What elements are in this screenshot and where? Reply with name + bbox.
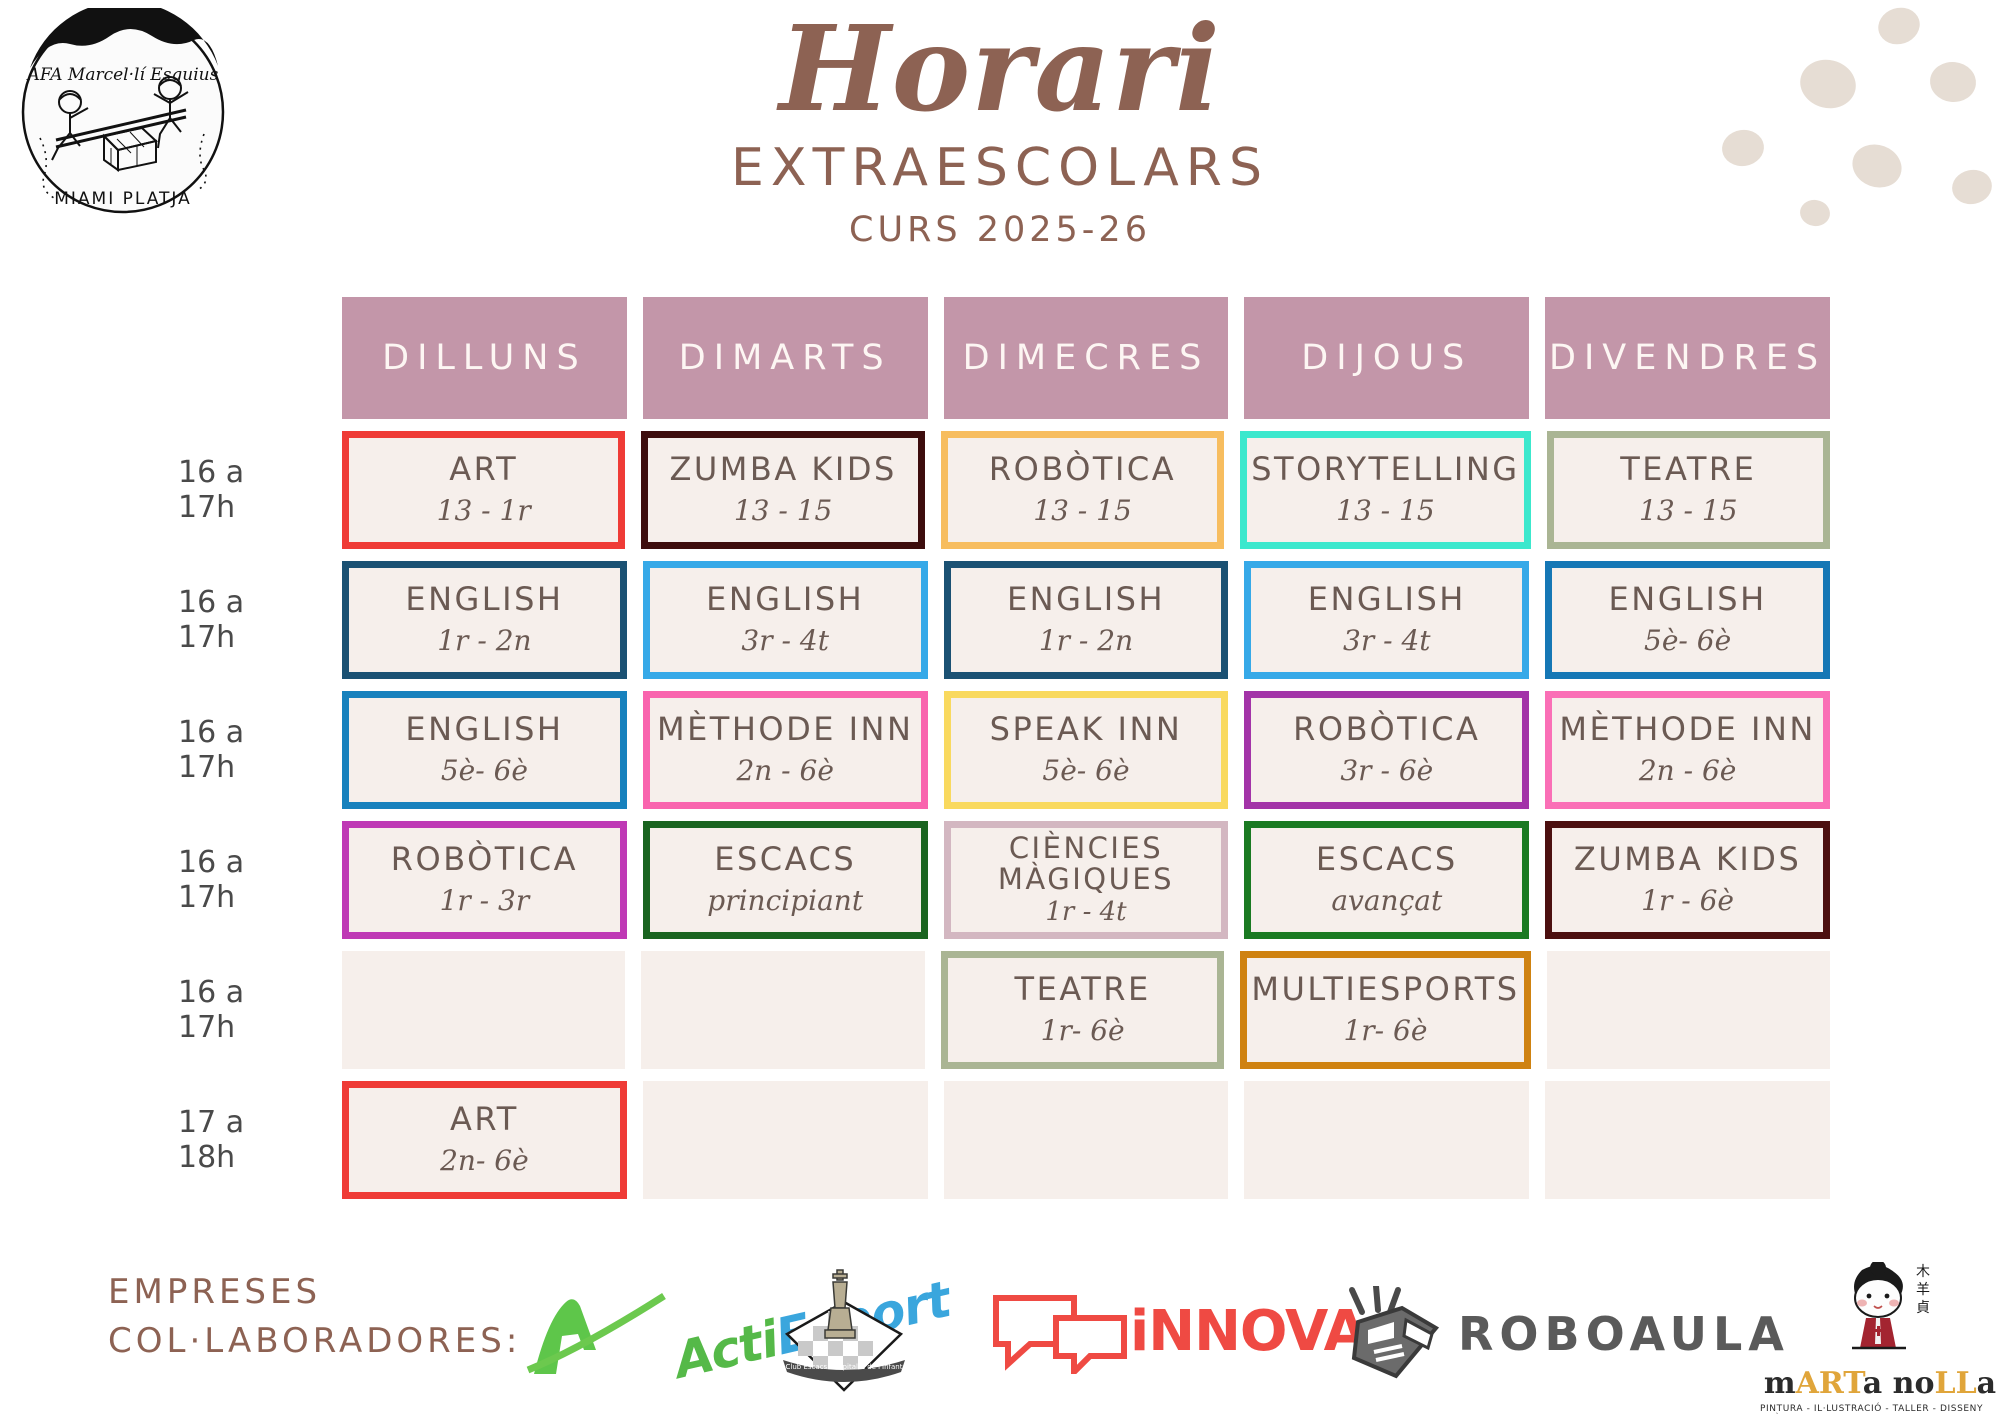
actiesport-icon bbox=[522, 1278, 672, 1382]
activity-name: MÈTHODE INN bbox=[1559, 713, 1815, 747]
activity-cell[interactable]: SPEAK INN5è- 6è bbox=[944, 691, 1229, 809]
activity-cell[interactable]: ROBÒTICA3r - 6è bbox=[1244, 691, 1529, 809]
day-header-dijous: DIJOUS bbox=[1244, 297, 1529, 419]
svg-text:貞: 貞 bbox=[1916, 1300, 1930, 1316]
activity-level: 5è- 6è bbox=[1644, 624, 1731, 657]
logo-org-top: AFA Marcel·lí Esquius bbox=[26, 65, 219, 85]
schedule-row: 16 a 17hART13 - 1rZUMBA KIDS13 - 15ROBÒT… bbox=[178, 431, 1830, 549]
empty-cell bbox=[944, 1081, 1229, 1199]
activity-name: ENGLISH bbox=[1007, 583, 1165, 617]
activity-level: 1r - 3r bbox=[440, 884, 530, 917]
activity-level: 3r - 4t bbox=[741, 624, 829, 657]
activity-cell[interactable]: ZUMBA KIDS1r - 6è bbox=[1545, 821, 1830, 939]
page-subtitle: EXTRAESCOLARS bbox=[620, 138, 1380, 198]
activity-cell[interactable]: ENGLISH1r - 2n bbox=[944, 561, 1229, 679]
activity-level: 13 - 15 bbox=[1336, 494, 1435, 527]
activity-cell[interactable]: STORYTELLING13 - 15 bbox=[1240, 431, 1530, 549]
activity-name: MULTIESPORTS bbox=[1251, 973, 1519, 1007]
day-header-dilluns: DILLUNS bbox=[342, 297, 627, 419]
activity-level: 13 - 15 bbox=[1033, 494, 1132, 527]
activity-cell[interactable]: ESCACSavançat bbox=[1244, 821, 1529, 939]
activity-name: CIÈNCIES MÀGIQUES bbox=[998, 833, 1174, 894]
svg-text:羊: 羊 bbox=[1916, 1282, 1930, 1298]
logo-marta-nolla: 木羊貞 mARTa noLLa PINTURA - IL·LUSTRACIÓ -… bbox=[1760, 1262, 2000, 1414]
empty-cell bbox=[1545, 1081, 1830, 1199]
activity-level: 1r - 2n bbox=[437, 624, 531, 657]
activity-cell[interactable]: MÈTHODE INN2n - 6è bbox=[1545, 691, 1830, 809]
activity-name: TEATRE bbox=[1620, 453, 1756, 487]
empty-cell bbox=[1244, 1081, 1529, 1199]
activity-cell[interactable]: ESCACSprincipiant bbox=[643, 821, 928, 939]
schedule-row: 16 a 17hTEATRE1r- 6èMULTIESPORTS1r- 6è bbox=[178, 951, 1830, 1069]
activity-name: ROBÒTICA bbox=[391, 843, 578, 877]
activity-name: ENGLISH bbox=[706, 583, 864, 617]
time-slot-label: 16 a 17h bbox=[178, 561, 326, 679]
marta-nolla-character-icon: 木羊貞 bbox=[1824, 1262, 1936, 1366]
footer: EMPRESES COL·LABORADORES: ActiEsport bbox=[0, 1262, 2000, 1414]
escacs-club-name: Club Escacs Hospitalet de l'Infant bbox=[786, 1363, 903, 1371]
activity-cell[interactable]: ZUMBA KIDS13 - 15 bbox=[641, 431, 924, 549]
activity-level: 1r- 6è bbox=[1343, 1014, 1427, 1047]
page-title: Horari bbox=[620, 10, 1380, 128]
empty-cell bbox=[342, 951, 625, 1069]
activity-name: ZUMBA KIDS bbox=[669, 453, 896, 487]
activity-name: ENGLISH bbox=[1308, 583, 1466, 617]
schedule-row: 16 a 17hENGLISH5è- 6èMÈTHODE INN2n - 6èS… bbox=[178, 691, 1830, 809]
activity-level: 5è- 6è bbox=[441, 754, 528, 787]
marta-nolla-wordmark: mARTa noLLa bbox=[1764, 1366, 1996, 1401]
innova-wordmark: iNNOVA bbox=[1130, 1299, 1366, 1364]
activity-level: 1r - 4t bbox=[1045, 897, 1126, 927]
marta-nolla-tagline: PINTURA - IL·LUSTRACIÓ - TALLER - DISSEN… bbox=[1760, 1404, 2000, 1414]
empty-cell bbox=[1547, 951, 1830, 1069]
activity-name: ESCACS bbox=[714, 843, 856, 877]
activity-cell[interactable]: ENGLISH5è- 6è bbox=[1545, 561, 1830, 679]
activity-name: ROBÒTICA bbox=[989, 453, 1176, 487]
activity-name: ART bbox=[450, 1103, 519, 1137]
activity-level: 13 - 15 bbox=[734, 494, 833, 527]
schedule-poster: AFA Marcel·lí Esquius bbox=[0, 0, 2000, 1414]
activity-cell[interactable]: TEATRE1r- 6è bbox=[941, 951, 1224, 1069]
day-header-divendres: DIVENDRES bbox=[1545, 297, 1830, 419]
activity-name: ENGLISH bbox=[1609, 583, 1767, 617]
empty-cell bbox=[641, 951, 924, 1069]
time-slot-label: 16 a 17h bbox=[178, 691, 326, 809]
activity-cell[interactable]: ENGLISH3r - 4t bbox=[1244, 561, 1529, 679]
activity-name: SPEAK INN bbox=[990, 713, 1183, 747]
collaborators-label: EMPRESES COL·LABORADORES: bbox=[108, 1268, 521, 1367]
activity-level: 2n- 6è bbox=[440, 1144, 529, 1177]
activity-cell[interactable]: TEATRE13 - 15 bbox=[1547, 431, 1830, 549]
activity-name: ART bbox=[449, 453, 518, 487]
svg-text:木: 木 bbox=[1916, 1264, 1930, 1280]
schedule-row: 16 a 17hENGLISH1r - 2nENGLISH3r - 4tENGL… bbox=[178, 561, 1830, 679]
pebble-shape bbox=[1949, 166, 1995, 208]
activity-name: ZUMBA KIDS bbox=[1574, 843, 1801, 877]
logo-org-bottom: MIAMI PLATJA bbox=[54, 189, 192, 209]
activity-cell[interactable]: ENGLISH3r - 4t bbox=[643, 561, 928, 679]
activity-cell[interactable]: ENGLISH5è- 6è bbox=[342, 691, 627, 809]
activity-name: MÈTHODE INN bbox=[657, 713, 913, 747]
pebble-shape bbox=[1720, 127, 1767, 168]
logo-escacs-club: Club Escacs Hospitalet de l'Infant bbox=[775, 1268, 913, 1398]
schedule-table: DILLUNS DIMARTS DIMECRES DIJOUS DIVENDRE… bbox=[178, 297, 1830, 1211]
pebble-shape bbox=[1795, 54, 1861, 114]
activity-cell[interactable]: ENGLISH1r - 2n bbox=[342, 561, 627, 679]
schedule-row: 17 a 18hART2n- 6è bbox=[178, 1081, 1830, 1199]
activity-level: 3r - 6è bbox=[1340, 754, 1433, 787]
activity-name: ROBÒTICA bbox=[1293, 713, 1480, 747]
activity-level: 1r - 6è bbox=[1641, 884, 1734, 917]
activity-cell[interactable]: CIÈNCIES MÀGIQUES1r - 4t bbox=[944, 821, 1229, 939]
day-header-dimarts: DIMARTS bbox=[643, 297, 928, 419]
activity-cell[interactable]: ART2n- 6è bbox=[342, 1081, 627, 1199]
school-year: CURS 2025-26 bbox=[620, 210, 1380, 250]
roboaula-robot-icon bbox=[1340, 1286, 1448, 1382]
schedule-row: 16 a 17hROBÒTICA1r - 3rESCACSprincipiant… bbox=[178, 821, 1830, 939]
activity-cell[interactable]: MÈTHODE INN2n - 6è bbox=[643, 691, 928, 809]
activity-name: STORYTELLING bbox=[1251, 453, 1519, 487]
activity-level: 1r - 2n bbox=[1039, 624, 1133, 657]
pebble-shape bbox=[1928, 60, 1978, 105]
time-slot-label: 16 a 17h bbox=[178, 951, 326, 1069]
pebble-shape bbox=[1798, 198, 1832, 229]
logo-roboaula: ROBOAULA bbox=[1340, 1286, 1790, 1382]
activity-level: 2n - 6è bbox=[1639, 754, 1737, 787]
title-block: Horari EXTRAESCOLARS CURS 2025-26 bbox=[620, 10, 1380, 250]
day-header-row: DILLUNS DIMARTS DIMECRES DIJOUS DIVENDRE… bbox=[178, 297, 1830, 419]
activity-level: 1r- 6è bbox=[1041, 1014, 1125, 1047]
pebble-shape bbox=[1846, 138, 1907, 195]
pebble-shape bbox=[1873, 2, 1924, 49]
empty-cell bbox=[643, 1081, 928, 1199]
activity-level: 5è- 6è bbox=[1042, 754, 1129, 787]
activity-level: 2n - 6è bbox=[736, 754, 834, 787]
activity-cell[interactable]: ROBÒTICA13 - 15 bbox=[941, 431, 1224, 549]
activity-level: 3r - 4t bbox=[1343, 624, 1431, 657]
activity-cell[interactable]: MULTIESPORTS1r- 6è bbox=[1240, 951, 1530, 1069]
activity-cell[interactable]: ART13 - 1r bbox=[342, 431, 625, 549]
logo-innova: iNNOVA bbox=[990, 1288, 1366, 1374]
activity-level: avançat bbox=[1331, 884, 1442, 917]
activity-level: 13 - 15 bbox=[1639, 494, 1738, 527]
activity-name: ENGLISH bbox=[405, 583, 563, 617]
afa-logo: AFA Marcel·lí Esquius bbox=[18, 8, 228, 216]
activity-cell[interactable]: ROBÒTICA1r - 3r bbox=[342, 821, 627, 939]
day-header-dimecres: DIMECRES bbox=[944, 297, 1229, 419]
time-slot-label: 16 a 17h bbox=[178, 431, 326, 549]
activity-level: principiant bbox=[707, 884, 863, 917]
corner-spacer bbox=[178, 297, 326, 419]
activity-level: 13 - 1r bbox=[437, 494, 531, 527]
time-slot-label: 16 a 17h bbox=[178, 821, 326, 939]
innova-chat-icon bbox=[990, 1288, 1130, 1374]
activity-name: ESCACS bbox=[1316, 843, 1458, 877]
chess-club-icon: Club Escacs Hospitalet de l'Infant bbox=[775, 1268, 913, 1398]
activity-name: ENGLISH bbox=[405, 713, 563, 747]
time-slot-label: 17 a 18h bbox=[178, 1081, 326, 1199]
roboaula-wordmark: ROBOAULA bbox=[1458, 1307, 1790, 1361]
activity-name: TEATRE bbox=[1015, 973, 1151, 1007]
